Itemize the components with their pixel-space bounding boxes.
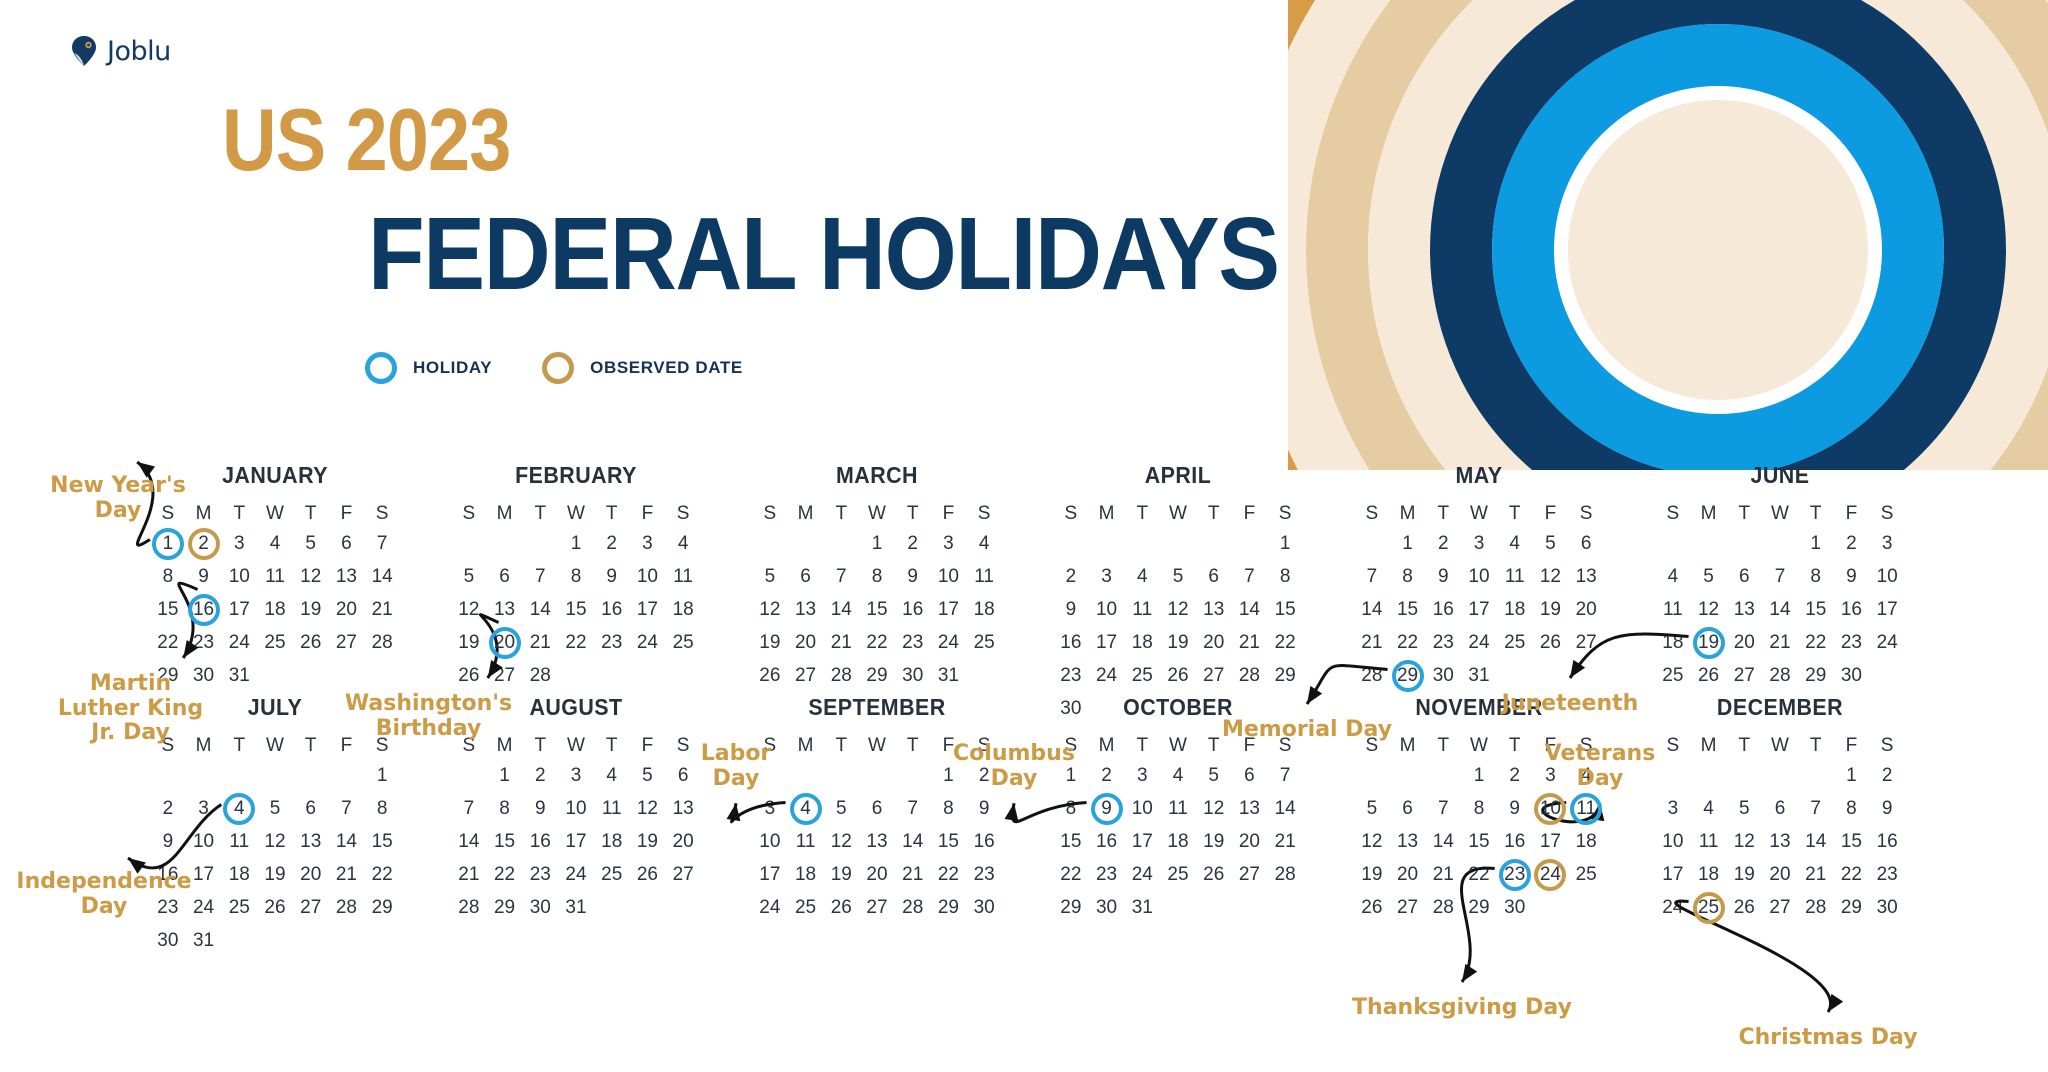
- day-cell: 1: [1798, 527, 1834, 560]
- day-cell: 23: [186, 626, 222, 659]
- day-cell: 14: [1354, 593, 1390, 626]
- empty-cell: [1726, 759, 1762, 792]
- day-cell: 27: [487, 659, 523, 692]
- day-cell: 30: [522, 891, 558, 924]
- empty-cell: [293, 759, 329, 792]
- empty-cell: [257, 759, 293, 792]
- day-cell: 11: [665, 560, 701, 593]
- holiday-label: Juneteenth: [1490, 692, 1650, 717]
- day-cell: 24: [1461, 626, 1497, 659]
- day-cell: 18: [1568, 825, 1604, 858]
- day-cell: 15: [1798, 593, 1834, 626]
- day-cell: 7: [895, 792, 931, 825]
- day-cell: 20: [1762, 858, 1798, 891]
- day-cell: 6: [1726, 560, 1762, 593]
- day-cell: 18: [966, 593, 1002, 626]
- day-cell: 15: [931, 825, 967, 858]
- day-cell: 8: [1390, 560, 1426, 593]
- day-cell: 12: [257, 825, 293, 858]
- week-row: 19202122232425: [1354, 858, 1604, 891]
- weekday-3: W: [558, 732, 594, 759]
- week-row: 891011121314: [1053, 792, 1303, 825]
- week-row: 45678910: [1655, 560, 1905, 593]
- day-cell: 27: [293, 891, 329, 924]
- empty-cell: [1390, 759, 1426, 792]
- day-cell: 11: [1655, 593, 1691, 626]
- week-row: 11121314151617: [1655, 593, 1905, 626]
- day-cell: 7: [1425, 792, 1461, 825]
- day-cell: 13: [1762, 825, 1798, 858]
- day-cell: 11: [788, 825, 824, 858]
- month-march: MARCHSMTWTFS1234567891011121314151617181…: [752, 462, 1002, 692]
- weekday-4: T: [895, 732, 931, 759]
- day-cell: 31: [931, 659, 967, 692]
- day-cell: 2: [1053, 560, 1089, 593]
- day-cell: 4: [1160, 759, 1196, 792]
- day-cell: 29: [487, 891, 523, 924]
- day-cell: 9: [1834, 560, 1870, 593]
- weekday-2: T: [1124, 500, 1160, 527]
- weekday-0: S: [451, 500, 487, 527]
- day-cell: 20: [788, 626, 824, 659]
- weekday-2: T: [522, 732, 558, 759]
- day-cell: 24: [630, 626, 666, 659]
- day-cell: 5: [1691, 560, 1727, 593]
- week-row: 24252627282930: [752, 891, 1002, 924]
- weekday-1: M: [1691, 732, 1727, 759]
- day-cell: 29: [1798, 659, 1834, 692]
- week-row: 28293031: [451, 891, 701, 924]
- day-cell: 8: [150, 560, 186, 593]
- day-cell: 12: [752, 593, 788, 626]
- day-cell: 10: [1533, 792, 1569, 825]
- day-cell: 9: [1425, 560, 1461, 593]
- day-cell: 3: [1461, 527, 1497, 560]
- weekday-6: S: [966, 500, 1002, 527]
- month-february: FEBRUARYSMTWTFS1234567891011121314151617…: [451, 462, 701, 692]
- legend-item-observed: OBSERVED DATE: [542, 352, 743, 384]
- day-cell: 2: [895, 527, 931, 560]
- day-cell: 8: [1267, 560, 1303, 593]
- day-cell: 4: [665, 527, 701, 560]
- empty-cell: [665, 659, 701, 692]
- day-cell: 20: [487, 626, 523, 659]
- weekday-0: S: [1053, 500, 1089, 527]
- month-title: FEBRUARY: [460, 462, 693, 489]
- day-cell: 18: [594, 825, 630, 858]
- weekday-2: T: [221, 500, 257, 527]
- empty-cell: [257, 924, 293, 957]
- day-cell: 16: [1869, 825, 1905, 858]
- day-cell: 8: [1798, 560, 1834, 593]
- day-cell: 19: [1726, 858, 1762, 891]
- weekday-2: T: [1425, 500, 1461, 527]
- week-row: 3031: [150, 924, 400, 957]
- day-cell: 30: [895, 659, 931, 692]
- holiday-label: Memorial Day: [1212, 718, 1402, 743]
- day-cell: 21: [1425, 858, 1461, 891]
- day-cell: 22: [931, 858, 967, 891]
- empty-cell: [329, 924, 365, 957]
- empty-cell: [1089, 527, 1125, 560]
- weekday-2: T: [823, 732, 859, 759]
- day-cell: 14: [895, 825, 931, 858]
- week-row: 567891011: [451, 560, 701, 593]
- week-row: 252627282930: [1655, 659, 1905, 692]
- week-row: 123: [1655, 527, 1905, 560]
- arrow-head-icon: [1307, 686, 1322, 704]
- weekday-header: SMTWTFS: [451, 500, 701, 527]
- day-cell: 30: [1089, 891, 1125, 924]
- day-cell: 15: [150, 593, 186, 626]
- day-cell: 19: [1691, 626, 1727, 659]
- empty-cell: [1798, 759, 1834, 792]
- arrow-head-icon: [1462, 964, 1477, 982]
- day-cell: 21: [895, 858, 931, 891]
- day-cell: 2: [594, 527, 630, 560]
- day-cell: 20: [1568, 593, 1604, 626]
- day-cell: 15: [1267, 593, 1303, 626]
- week-row: 12131415161718: [1354, 825, 1604, 858]
- day-cell: 2: [150, 792, 186, 825]
- day-cell: 5: [1354, 792, 1390, 825]
- day-cell: 16: [966, 825, 1002, 858]
- weekday-2: T: [1425, 732, 1461, 759]
- weekday-3: W: [1762, 732, 1798, 759]
- weekday-4: T: [594, 500, 630, 527]
- day-cell: 11: [1691, 825, 1727, 858]
- weekday-header: SMTWTFS: [1655, 732, 1905, 759]
- week-row: 12131415161718: [752, 593, 1002, 626]
- day-cell: 28: [364, 626, 400, 659]
- day-cell: 4: [221, 792, 257, 825]
- day-cell: 23: [1497, 858, 1533, 891]
- empty-cell: [293, 659, 329, 692]
- legend: HOLIDAY OBSERVED DATE: [365, 352, 743, 384]
- day-cell: 12: [1533, 560, 1569, 593]
- week-row: 1: [1053, 527, 1303, 560]
- weekday-3: W: [1762, 500, 1798, 527]
- day-cell: 29: [1267, 659, 1303, 692]
- empty-cell: [859, 759, 895, 792]
- day-cell: 18: [665, 593, 701, 626]
- weekday-4: T: [1497, 500, 1533, 527]
- day-cell: 10: [1089, 593, 1125, 626]
- weekday-1: M: [1089, 732, 1125, 759]
- weekday-4: T: [895, 500, 931, 527]
- day-cell: 14: [329, 825, 365, 858]
- day-cell: 5: [257, 792, 293, 825]
- day-cell: 23: [522, 858, 558, 891]
- empty-cell: [329, 659, 365, 692]
- day-cell: 5: [630, 759, 666, 792]
- week-row: 123456: [451, 759, 701, 792]
- day-cell: 17: [1461, 593, 1497, 626]
- day-cell: 19: [257, 858, 293, 891]
- day-cell: 24: [221, 626, 257, 659]
- day-cell: 27: [1196, 659, 1232, 692]
- day-cell: 4: [1497, 527, 1533, 560]
- day-cell: 19: [1533, 593, 1569, 626]
- day-cell: 5: [1726, 792, 1762, 825]
- day-cell: 18: [1160, 825, 1196, 858]
- day-cell: 19: [752, 626, 788, 659]
- day-cell: 5: [1160, 560, 1196, 593]
- weekday-1: M: [1691, 500, 1727, 527]
- day-cell: 13: [1232, 792, 1268, 825]
- weekday-2: T: [1124, 732, 1160, 759]
- day-cell: 29: [1461, 891, 1497, 924]
- week-row: 2345678: [1053, 560, 1303, 593]
- day-cell: 30: [1834, 659, 1870, 692]
- week-row: 22232425262728: [1053, 858, 1303, 891]
- day-cell: 17: [1533, 825, 1569, 858]
- weekday-3: W: [257, 500, 293, 527]
- week-row: 567891011: [1354, 792, 1604, 825]
- arrow-head-icon: [727, 803, 741, 821]
- weekday-header: SMTWTFS: [752, 500, 1002, 527]
- day-cell: 17: [1869, 593, 1905, 626]
- blue-circle-icon: [365, 352, 397, 384]
- empty-cell: [1762, 759, 1798, 792]
- empty-cell: [186, 759, 222, 792]
- empty-cell: [630, 659, 666, 692]
- week-row: 18192021222324: [1655, 626, 1905, 659]
- day-cell: 9: [594, 560, 630, 593]
- day-cell: 5: [1533, 527, 1569, 560]
- weekday-3: W: [257, 732, 293, 759]
- brand-logo[interactable]: Joblu: [70, 35, 171, 67]
- empty-cell: [823, 527, 859, 560]
- day-cell: 17: [1655, 858, 1691, 891]
- day-cell: 7: [823, 560, 859, 593]
- day-cell: 18: [1497, 593, 1533, 626]
- weekday-1: M: [487, 500, 523, 527]
- day-cell: 28: [329, 891, 365, 924]
- week-row: 1234: [752, 527, 1002, 560]
- week-row: 2627282930: [1354, 891, 1604, 924]
- day-cell: 14: [1232, 593, 1268, 626]
- day-cell: 9: [1869, 792, 1905, 825]
- day-cell: 8: [1053, 792, 1089, 825]
- weekday-5: F: [329, 500, 365, 527]
- gold-circle-icon: [542, 352, 574, 384]
- week-row: 23242526272829: [1053, 659, 1303, 692]
- day-cell: 29: [364, 891, 400, 924]
- day-cell: 10: [1461, 560, 1497, 593]
- day-cell: 3: [221, 527, 257, 560]
- day-cell: 2: [522, 759, 558, 792]
- day-cell: 24: [558, 858, 594, 891]
- day-cell: 4: [966, 527, 1002, 560]
- day-cell: 3: [1655, 792, 1691, 825]
- day-cell: 10: [186, 825, 222, 858]
- legend-label-observed: OBSERVED DATE: [590, 358, 743, 378]
- weekday-3: W: [1160, 500, 1196, 527]
- day-cell: 23: [1834, 626, 1870, 659]
- empty-cell: [522, 527, 558, 560]
- day-cell: 8: [487, 792, 523, 825]
- month-june: JUNESMTWTFS12345678910111213141516171819…: [1655, 462, 1905, 692]
- day-cell: 6: [1196, 560, 1232, 593]
- empty-cell: [364, 924, 400, 957]
- week-row: 12131415161718: [451, 593, 701, 626]
- day-cell: 20: [665, 825, 701, 858]
- day-cell: 11: [594, 792, 630, 825]
- day-cell: 23: [1053, 659, 1089, 692]
- day-cell: 4: [594, 759, 630, 792]
- legend-label-holiday: HOLIDAY: [413, 358, 492, 378]
- day-cell: 11: [221, 825, 257, 858]
- day-cell: 11: [257, 560, 293, 593]
- day-cell: 20: [329, 593, 365, 626]
- empty-cell: [1053, 527, 1089, 560]
- day-cell: 7: [364, 527, 400, 560]
- day-cell: 29: [931, 891, 967, 924]
- day-cell: 27: [859, 891, 895, 924]
- day-cell: 15: [1390, 593, 1426, 626]
- day-cell: 25: [665, 626, 701, 659]
- day-cell: 28: [522, 659, 558, 692]
- week-row: 293031: [1053, 891, 1303, 924]
- day-cell: 9: [966, 792, 1002, 825]
- day-cell: 21: [1798, 858, 1834, 891]
- day-cell: 27: [1568, 626, 1604, 659]
- day-cell: 13: [788, 593, 824, 626]
- day-cell: 28: [1798, 891, 1834, 924]
- weekday-2: T: [221, 732, 257, 759]
- day-cell: 1: [558, 527, 594, 560]
- day-cell: 15: [487, 825, 523, 858]
- day-cell: 8: [558, 560, 594, 593]
- weekday-2: T: [1726, 500, 1762, 527]
- empty-cell: [1691, 527, 1727, 560]
- day-cell: 10: [1655, 825, 1691, 858]
- day-cell: 18: [788, 858, 824, 891]
- day-cell: 2: [1497, 759, 1533, 792]
- empty-cell: [966, 659, 1002, 692]
- day-cell: 25: [1691, 891, 1727, 924]
- day-cell: 26: [630, 858, 666, 891]
- day-cell: 18: [257, 593, 293, 626]
- day-cell: 31: [186, 924, 222, 957]
- day-cell: 24: [1655, 891, 1691, 924]
- day-cell: 14: [1762, 593, 1798, 626]
- day-cell: 19: [1196, 825, 1232, 858]
- day-cell: 10: [752, 825, 788, 858]
- weekday-2: T: [823, 500, 859, 527]
- day-cell: 1: [1834, 759, 1870, 792]
- weekday-6: S: [1869, 500, 1905, 527]
- weekday-5: F: [1533, 500, 1569, 527]
- day-cell: 26: [293, 626, 329, 659]
- day-cell: 5: [823, 792, 859, 825]
- day-cell: 18: [1691, 858, 1727, 891]
- day-cell: 13: [293, 825, 329, 858]
- day-cell: 16: [1089, 825, 1125, 858]
- week-row: 12: [1655, 759, 1905, 792]
- weekday-header: SMTWTFS: [1053, 500, 1303, 527]
- day-cell: 22: [1053, 858, 1089, 891]
- day-cell: 18: [221, 858, 257, 891]
- empty-cell: [558, 659, 594, 692]
- empty-cell: [752, 527, 788, 560]
- day-cell: 18: [1124, 626, 1160, 659]
- week-row: 17181920212223: [752, 858, 1002, 891]
- day-cell: 31: [221, 659, 257, 692]
- day-cell: 29: [1834, 891, 1870, 924]
- week-row: 14151617181920: [451, 825, 701, 858]
- arrow-head-icon: [1005, 803, 1019, 821]
- weekday-6: S: [364, 500, 400, 527]
- brand-name: Joblu: [107, 36, 171, 67]
- day-cell: 28: [1267, 858, 1303, 891]
- day-cell: 2: [186, 527, 222, 560]
- empty-cell: [1726, 527, 1762, 560]
- empty-cell: [1533, 891, 1569, 924]
- week-row: 78910111213: [1354, 560, 1604, 593]
- weekday-5: F: [1834, 500, 1870, 527]
- joblu-bird-icon: [70, 35, 98, 67]
- day-cell: 20: [1196, 626, 1232, 659]
- empty-cell: [329, 759, 365, 792]
- empty-cell: [257, 659, 293, 692]
- day-cell: 1: [150, 527, 186, 560]
- day-cell: 14: [522, 593, 558, 626]
- day-cell: 12: [823, 825, 859, 858]
- weekday-1: M: [1390, 500, 1426, 527]
- day-cell: 21: [1762, 626, 1798, 659]
- day-cell: 10: [558, 792, 594, 825]
- holiday-label: Veterans Day: [1530, 742, 1670, 791]
- day-cell: 27: [665, 858, 701, 891]
- week-row: 567891011: [752, 560, 1002, 593]
- empty-cell: [1497, 659, 1533, 692]
- day-cell: 3: [558, 759, 594, 792]
- day-cell: 25: [594, 858, 630, 891]
- infographic-page: Joblu US 2023 FEDERAL HOLIDAYS HOLIDAY O…: [0, 0, 2048, 1072]
- day-cell: 24: [1089, 659, 1125, 692]
- day-cell: 28: [895, 891, 931, 924]
- day-cell: 31: [1124, 891, 1160, 924]
- weekday-1: M: [1089, 500, 1125, 527]
- day-cell: 16: [186, 593, 222, 626]
- day-cell: 13: [329, 560, 365, 593]
- day-cell: 9: [186, 560, 222, 593]
- day-cell: 4: [1691, 792, 1727, 825]
- weekday-4: T: [1196, 500, 1232, 527]
- day-cell: 26: [257, 891, 293, 924]
- day-cell: 14: [364, 560, 400, 593]
- day-cell: 16: [1425, 593, 1461, 626]
- day-cell: 17: [221, 593, 257, 626]
- day-cell: 2: [1834, 527, 1870, 560]
- holiday-label: Thanksgiving Day: [1342, 996, 1582, 1021]
- empty-cell: [1267, 891, 1303, 924]
- day-cell: 20: [1726, 626, 1762, 659]
- day-cell: 6: [1568, 527, 1604, 560]
- day-cell: 27: [329, 626, 365, 659]
- day-cell: 15: [364, 825, 400, 858]
- day-cell: 19: [630, 825, 666, 858]
- day-cell: 13: [1196, 593, 1232, 626]
- day-cell: 12: [1691, 593, 1727, 626]
- month-title: DECEMBER: [1664, 694, 1897, 721]
- day-cell: 6: [293, 792, 329, 825]
- week-row: 10111213141516: [1655, 825, 1905, 858]
- holiday-label: Washington's Birthday: [336, 692, 521, 741]
- day-cell: 20: [1390, 858, 1426, 891]
